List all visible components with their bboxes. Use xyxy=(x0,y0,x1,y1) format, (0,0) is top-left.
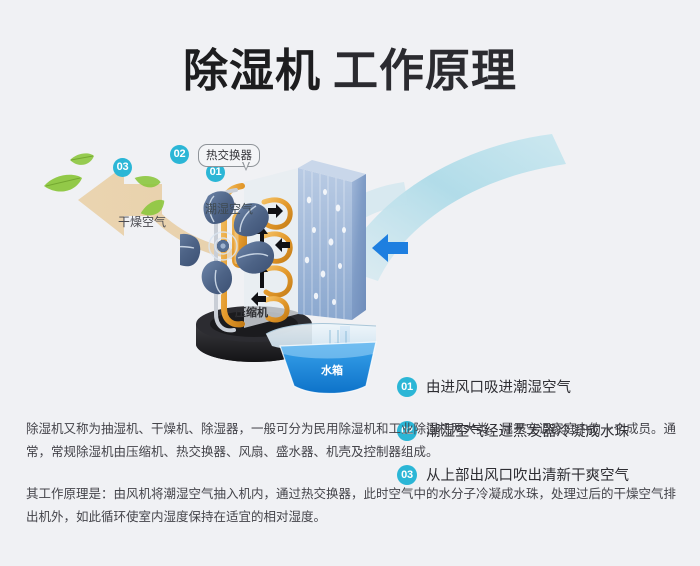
humid-air-label: 潮湿空气 xyxy=(205,200,253,217)
step-badge-01: 01 xyxy=(397,377,417,397)
infographic-page: 除湿机工作原理 xyxy=(0,0,700,566)
page-title-secondary: 工作原理 xyxy=(333,45,517,96)
step-text-01: 由进风口吸进潮湿空气 xyxy=(426,376,571,397)
diagram-stage: 压缩机 水箱 03 干燥空气 01 潮湿空气 02 热交换器 01 由进风口吸进… xyxy=(0,118,700,403)
page-title: 除湿机工作原理 xyxy=(0,34,700,99)
page-title-primary: 除湿机 xyxy=(183,45,321,96)
description-paragraph-2: 其工作原理是：由风机将潮湿空气抽入机内，通过热交换器，此时空气中的水分子冷凝成水… xyxy=(26,483,678,529)
description-paragraph-1: 除湿机又称为抽湿机、干燥机、除湿器，一般可分为民用除湿机和工业除湿机两大类，属于… xyxy=(26,418,678,464)
dry-air-label: 干燥空气 xyxy=(118,213,166,230)
list-item: 01 由进风口吸进潮湿空气 xyxy=(397,373,687,400)
heat-exchanger-callout: 02 热交换器 xyxy=(170,144,310,184)
heat-exchanger-pointer-fill xyxy=(243,161,249,169)
dry-air-badge: 03 xyxy=(113,158,132,177)
heat-exchanger-badge: 02 xyxy=(170,145,189,164)
compressor-label: 压缩机 xyxy=(235,304,268,320)
heat-exchanger-label: 热交换器 xyxy=(198,144,260,167)
water-tank-label: 水箱 xyxy=(321,362,343,378)
description-section: 除湿机又称为抽湿机、干燥机、除湿器，一般可分为民用除湿机和工业除湿机两大类，属于… xyxy=(26,418,678,529)
